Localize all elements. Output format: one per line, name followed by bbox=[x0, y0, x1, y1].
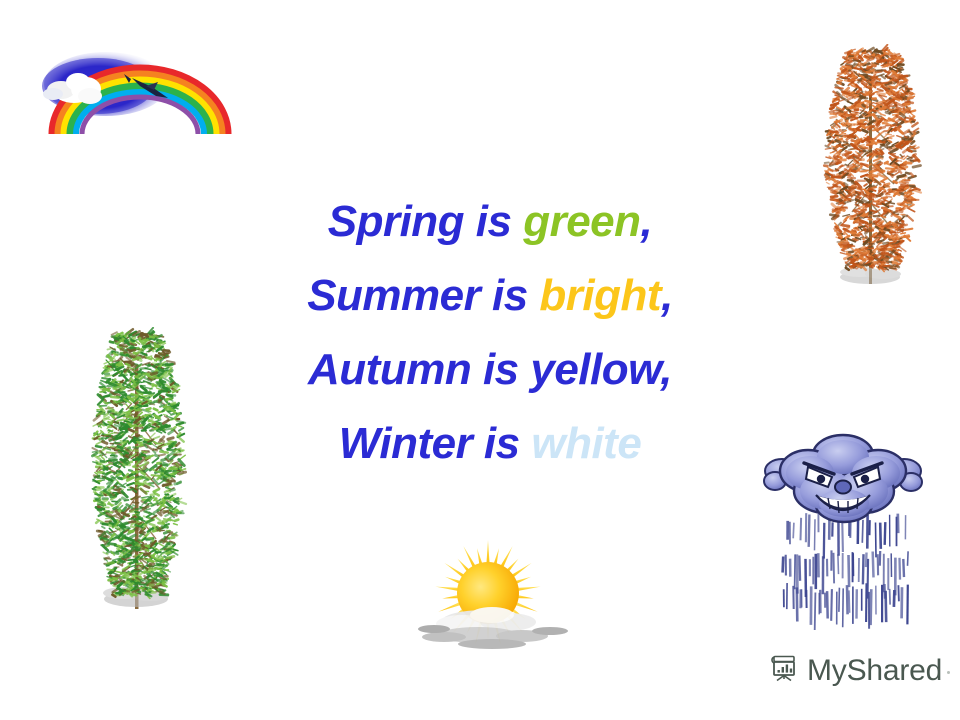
poem-line-autumn-prefix: Autumn is bbox=[308, 345, 530, 394]
rain-cloud-icon bbox=[758, 425, 928, 630]
myshared-label: MyShared bbox=[807, 654, 942, 688]
rain-cloud-clipart bbox=[758, 425, 928, 630]
sun-icon bbox=[404, 525, 572, 653]
green-tree-icon bbox=[76, 327, 200, 623]
autumn-tree-clipart: {} bbox=[808, 44, 934, 292]
poem-text-block: Spring is green, Summer is bright, Autum… bbox=[200, 185, 780, 481]
flipchart-bar-chart-icon bbox=[768, 652, 800, 689]
slide-canvas: {} bbox=[0, 0, 960, 720]
poem-word-yellow: yellow bbox=[530, 345, 660, 394]
poem-word-bright: bright bbox=[539, 271, 661, 320]
poem-line-autumn: Autumn is yellow, bbox=[200, 333, 780, 407]
poem-line-summer-prefix: Summer is bbox=[307, 271, 539, 320]
poem-line-summer: Summer is bright, bbox=[200, 259, 780, 333]
cloud-shape bbox=[418, 607, 568, 649]
poem-word-white: white bbox=[531, 419, 641, 468]
green-foliage bbox=[92, 328, 186, 599]
sun-clipart bbox=[404, 525, 572, 653]
poem-line-spring: Spring is green, bbox=[200, 185, 780, 259]
autumn-tree-icon: {} bbox=[808, 44, 934, 292]
poem-line-autumn-suffix: , bbox=[660, 345, 672, 394]
poem-line-winter-prefix: Winter is bbox=[339, 419, 532, 468]
poem-line-spring-prefix: Spring is bbox=[328, 197, 523, 246]
green-tree-clipart bbox=[76, 327, 200, 623]
poem-word-green: green bbox=[523, 197, 640, 246]
rainbow-icon bbox=[28, 34, 243, 136]
poem-line-summer-suffix: , bbox=[661, 271, 673, 320]
autumn-foliage bbox=[824, 45, 921, 272]
myshared-watermark: MyShared bbox=[768, 652, 942, 689]
rainbow-clipart bbox=[28, 34, 243, 136]
poem-line-spring-suffix: , bbox=[641, 197, 653, 246]
watermark-dot bbox=[947, 671, 950, 674]
poem-line-winter: Winter is white bbox=[200, 407, 780, 481]
